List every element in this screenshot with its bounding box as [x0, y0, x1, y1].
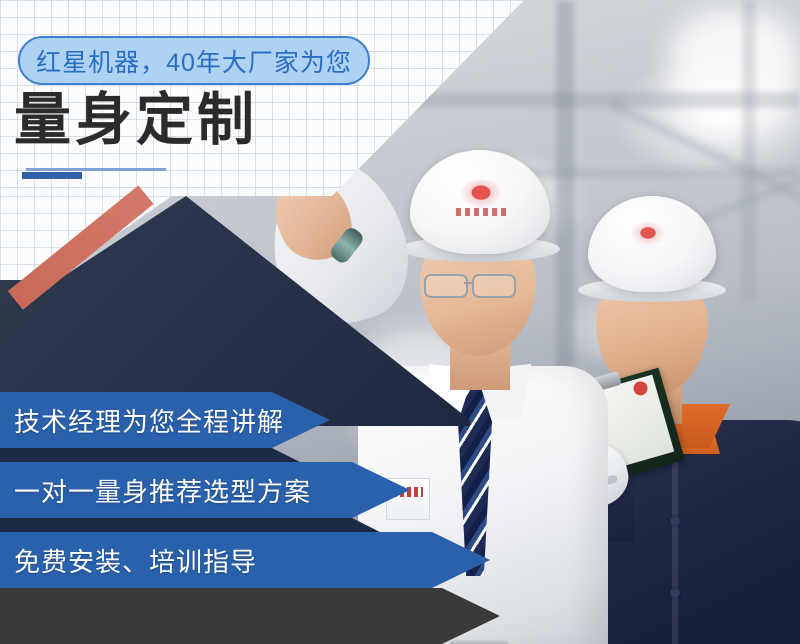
feature-separator-1 [0, 448, 300, 462]
feature-label-2: 一对一量身推荐选型方案 [14, 472, 311, 509]
feature-banner-1: 技术经理为您全程讲解 [0, 392, 330, 448]
eyeglasses-lens-right-icon [472, 274, 516, 298]
worker-button [670, 588, 680, 598]
tagline-badge: 红星机器，40年大厂家为您 [18, 36, 370, 85]
helmet-logo-icon [458, 180, 504, 210]
tagline-badge-text: 红星机器，40年大厂家为您 [36, 43, 352, 79]
feature-label-1: 技术经理为您全程讲解 [14, 402, 284, 439]
headline-rule-thick [22, 172, 82, 179]
eyeglasses-bridge-icon [464, 282, 474, 284]
feature-separator-2 [0, 518, 380, 532]
window-glare [670, 10, 800, 130]
helmet-logo-text [456, 208, 508, 216]
factory-beam-horizontal [400, 92, 800, 108]
feature-banner-2: 一对一量身推荐选型方案 [0, 462, 410, 518]
eyeglasses-lens-left-icon [424, 274, 468, 298]
helmet-logo-icon [628, 222, 668, 248]
promo-banner: 红星机器，40年大厂家为您 量身定制 技术经理为您全程讲解 一对一量身推荐选型方… [0, 0, 800, 644]
footer-arrow-bar [0, 588, 500, 644]
feature-banner-3: 免费安装、培训指导 [0, 532, 490, 588]
headline-rule-thin [26, 168, 166, 171]
worker-button [670, 516, 680, 526]
feature-label-3: 免费安装、培训指导 [14, 542, 257, 579]
page-title: 量身定制 [14, 92, 258, 149]
worker-placket [672, 454, 678, 644]
engineer-belt-buckle [450, 640, 508, 644]
